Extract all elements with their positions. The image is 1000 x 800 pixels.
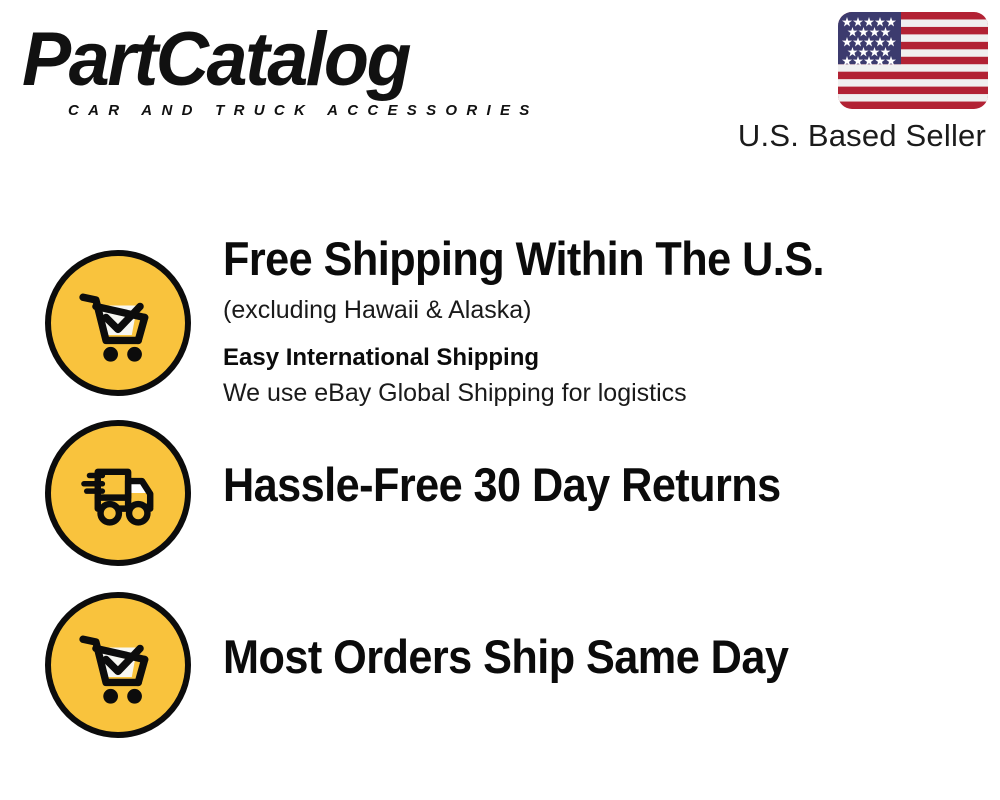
brand-wordmark: PartCatalog xyxy=(22,22,409,98)
benefit-headline: Most Orders Ship Same Day xyxy=(223,630,923,684)
benefit-subline-light: We use eBay Global Shipping for logistic… xyxy=(223,377,984,409)
benefit-row: Most Orders Ship Same Day xyxy=(0,592,1000,742)
us-based-seller-label: U.S. Based Seller xyxy=(738,118,986,154)
benefit-text-block: Free Shipping Within The U.S. (excluding… xyxy=(223,232,984,409)
benefit-headline: Free Shipping Within The U.S. xyxy=(223,232,923,286)
benefit-subline-strong: Easy International Shipping xyxy=(223,343,984,373)
shopping-cart-check-icon xyxy=(45,250,191,396)
benefit-headline: Hassle-Free 30 Day Returns xyxy=(223,458,923,512)
brand-logo[interactable]: PartCatalog CAR AND TRUCK ACCESSORIES xyxy=(22,22,492,114)
brand-tagline: CAR AND TRUCK ACCESSORIES xyxy=(68,102,539,119)
benefit-row: Free Shipping Within The U.S. (excluding… xyxy=(0,232,1000,416)
benefit-subline: (excluding Hawaii & Alaska) xyxy=(223,294,984,327)
shopping-cart-check-icon xyxy=(45,592,191,738)
benefit-row: Hassle-Free 30 Day Returns xyxy=(0,420,1000,572)
benefit-text-block: Hassle-Free 30 Day Returns xyxy=(223,458,984,512)
delivery-truck-icon xyxy=(45,420,191,566)
benefit-text-block: Most Orders Ship Same Day xyxy=(223,630,984,684)
us-flag-icon xyxy=(838,12,988,109)
